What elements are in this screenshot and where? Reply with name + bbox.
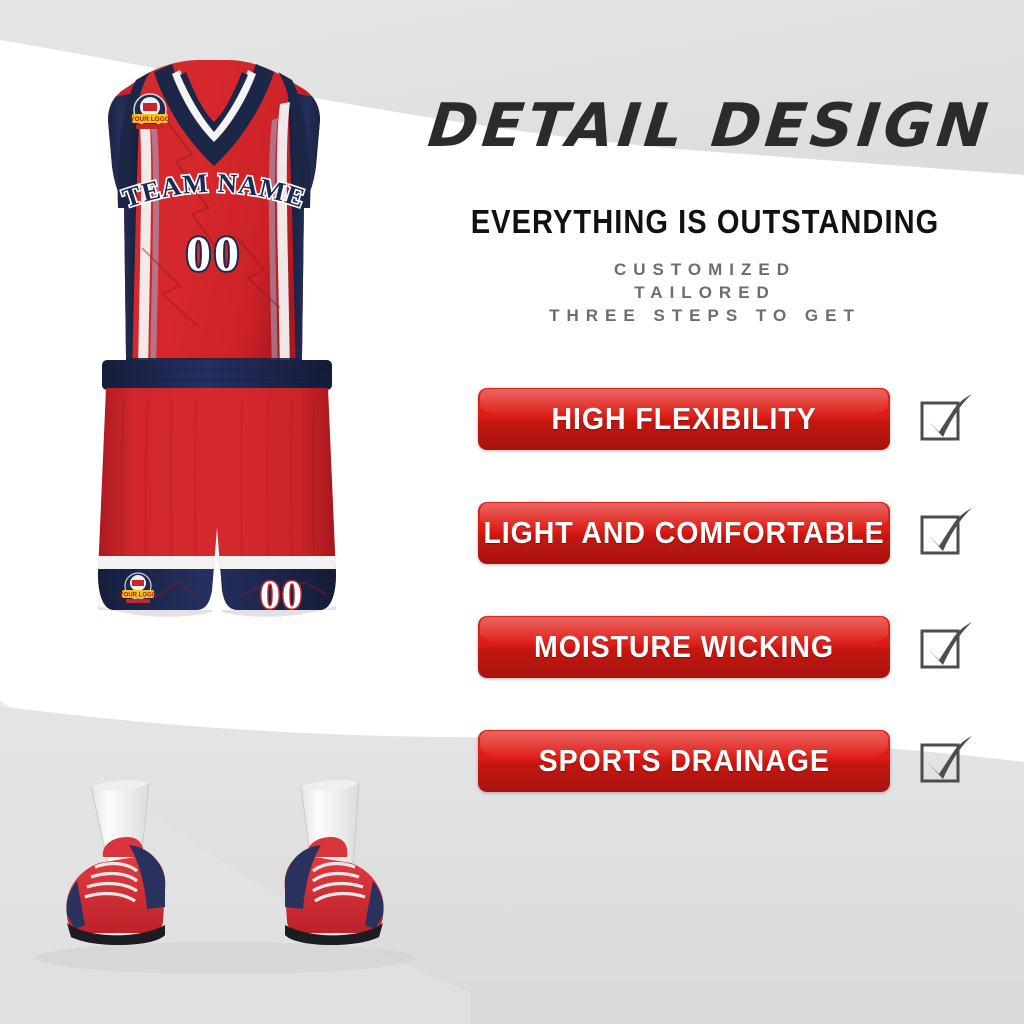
jersey-logo-text: YOUR LOGO: [130, 116, 170, 123]
feature-row: LIGHT AND COMFORTABLE: [400, 502, 1024, 564]
page-title: DETAIL DESIGN: [407, 96, 1013, 156]
feature-row: HIGH FLEXIBILITY: [400, 388, 1024, 450]
feature-label: HIGH FLEXIBILITY: [551, 401, 816, 437]
shoe-left: [66, 780, 165, 945]
shoes-image: [55, 775, 395, 960]
tagline-1: CUSTOMIZED: [405, 258, 1005, 281]
feature-label: MOISTURE WICKING: [534, 629, 834, 665]
feature-banner-moisture-wicking[interactable]: MOISTURE WICKING: [478, 616, 890, 678]
feature-list: HIGH FLEXIBILITY LIGHT AND COMFORTABLE: [400, 388, 1024, 844]
jersey-image: YOUR LOGO TEAM NAME 00: [88, 58, 338, 388]
shoe-right: [285, 780, 384, 945]
marketing-copy: DETAIL DESIGN EVERYTHING IS OUTSTANDING …: [400, 0, 1024, 1024]
feature-banner-high-flexibility[interactable]: HIGH FLEXIBILITY: [478, 388, 890, 450]
feature-label: LIGHT AND COMFORTABLE: [483, 515, 884, 551]
feature-banner-light-and-comfortable[interactable]: LIGHT AND COMFORTABLE: [478, 502, 890, 564]
checkbox-checked-icon: [914, 617, 974, 677]
feature-banner-sports-drainage[interactable]: SPORTS DRAINAGE: [478, 730, 890, 792]
jersey-number: 00: [186, 225, 242, 281]
feature-row: MOISTURE WICKING: [400, 616, 1024, 678]
checkbox-checked-icon: [914, 731, 974, 791]
shorts-stripe: [92, 556, 342, 569]
tagline-3: THREE STEPS TO GET: [405, 304, 1005, 327]
poster-canvas: YOUR LOGO TEAM NAME 00: [0, 0, 1024, 1024]
checkbox-checked-icon: [914, 389, 974, 449]
tagline-list: CUSTOMIZED TAILORED THREE STEPS TO GET: [405, 258, 1005, 327]
feature-label: SPORTS DRAINAGE: [538, 743, 829, 779]
feature-row: SPORTS DRAINAGE: [400, 730, 1024, 792]
shorts-waistband: [102, 360, 332, 390]
page-subtitle: EVERYTHING IS OUTSTANDING: [441, 205, 969, 238]
shorts-image: YOUR LOGO 00: [92, 360, 342, 682]
product-showcase: YOUR LOGO TEAM NAME 00: [0, 0, 430, 1024]
checkbox-checked-icon: [914, 503, 974, 563]
shorts-logo-text: YOUR LOGO: [120, 593, 157, 599]
tagline-2: TAILORED: [405, 281, 1005, 304]
